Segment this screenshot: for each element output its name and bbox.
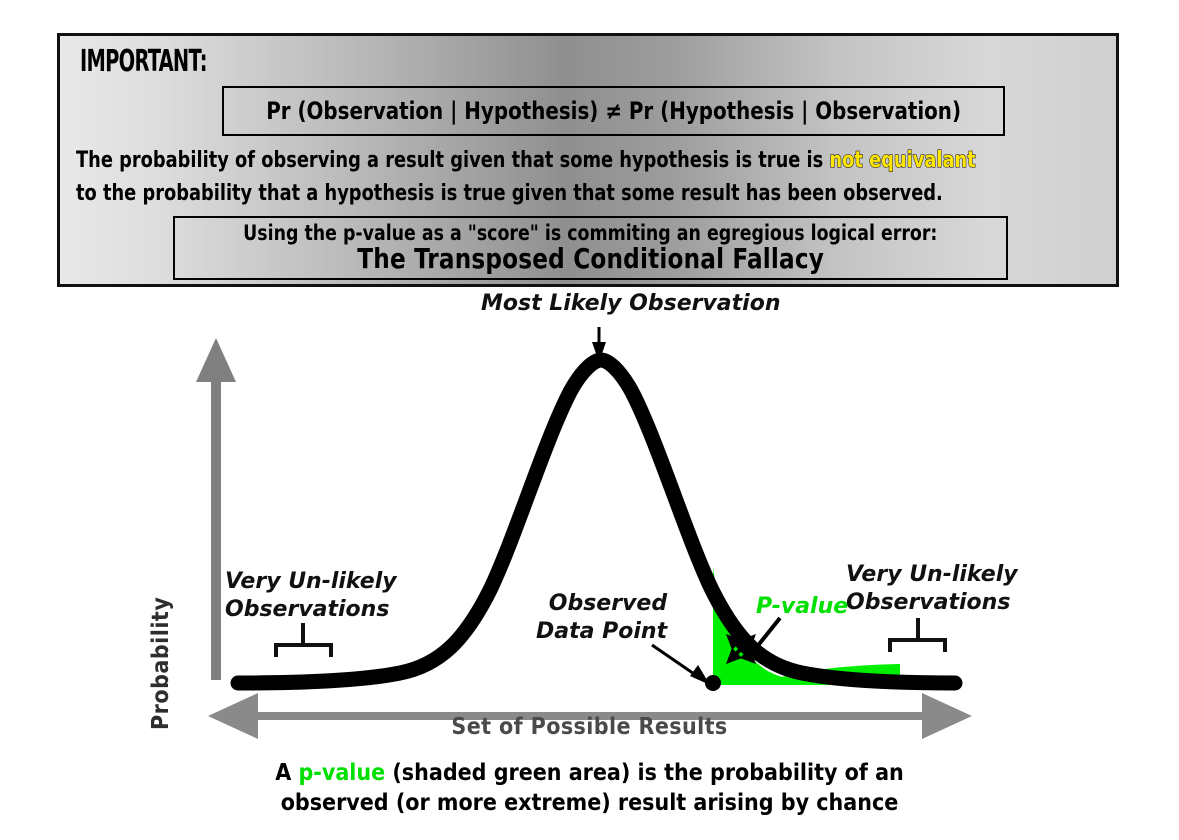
y-axis-arrow	[196, 338, 236, 680]
fallacy-title: The Transposed Conditional Fallacy	[357, 244, 824, 275]
left-unlikely-bracket	[276, 623, 331, 657]
panel-body-line-1-text: The probability of observing a result gi…	[76, 148, 829, 173]
fallacy-subtitle: Using the p-value as a "score" is commit…	[243, 222, 937, 244]
fallacy-box: Using the p-value as a "score" is commit…	[173, 216, 1008, 280]
formula-text: Pr (Observation | Hypothesis) ≠ Pr (Hypo…	[266, 97, 961, 125]
panel-body-highlight: not equivalant	[829, 148, 975, 173]
caption-line-1: A p-value (shaded green area) is the pro…	[0, 758, 1179, 788]
observed-point-arrow	[652, 645, 710, 685]
caption-line-1-a: A	[275, 760, 298, 786]
caption-line-1-b: (shaded green area) is the probability o…	[385, 760, 904, 786]
label-right-unlikely-line1: Very Un-likely	[846, 561, 1018, 589]
observed-data-point	[705, 675, 721, 691]
figure-caption: A p-value (shaded green area) is the pro…	[0, 758, 1179, 819]
label-most-likely-observation: Most Likely Observation	[481, 290, 780, 318]
panel-body-line-1: The probability of observing a result gi…	[76, 148, 976, 173]
chart-svg	[0, 290, 1179, 750]
label-observed-line1: Observed	[536, 590, 667, 618]
label-observed-data-point: Observed Data Point	[536, 590, 667, 646]
important-heading: IMPORTANT:	[80, 44, 207, 79]
label-left-unlikely-line1: Very Un-likely	[225, 568, 397, 596]
caption-pvalue-word: p-value	[298, 760, 385, 786]
label-right-unlikely-observations: Very Un-likely Observations	[846, 561, 1018, 617]
y-axis-label: Probability	[148, 597, 174, 730]
caption-line-2: observed (or more extreme) result arisin…	[0, 788, 1179, 818]
label-left-unlikely-observations: Very Un-likely Observations	[225, 568, 397, 624]
chart-figure: Most Likely Observation Very Un-likely O…	[0, 290, 1179, 750]
label-observed-line2: Data Point	[536, 618, 667, 646]
label-right-unlikely-line2: Observations	[846, 589, 1018, 617]
panel-body-line-2: to the probability that a hypothesis is …	[76, 181, 943, 206]
right-unlikely-bracket	[890, 618, 945, 652]
formula-box: Pr (Observation | Hypothesis) ≠ Pr (Hypo…	[222, 86, 1005, 136]
x-axis-label: Set of Possible Results	[0, 714, 1179, 740]
label-pvalue: P-value	[756, 593, 848, 621]
important-panel: IMPORTANT: Pr (Observation | Hypothesis)…	[57, 33, 1119, 287]
label-left-unlikely-line2: Observations	[225, 596, 397, 624]
